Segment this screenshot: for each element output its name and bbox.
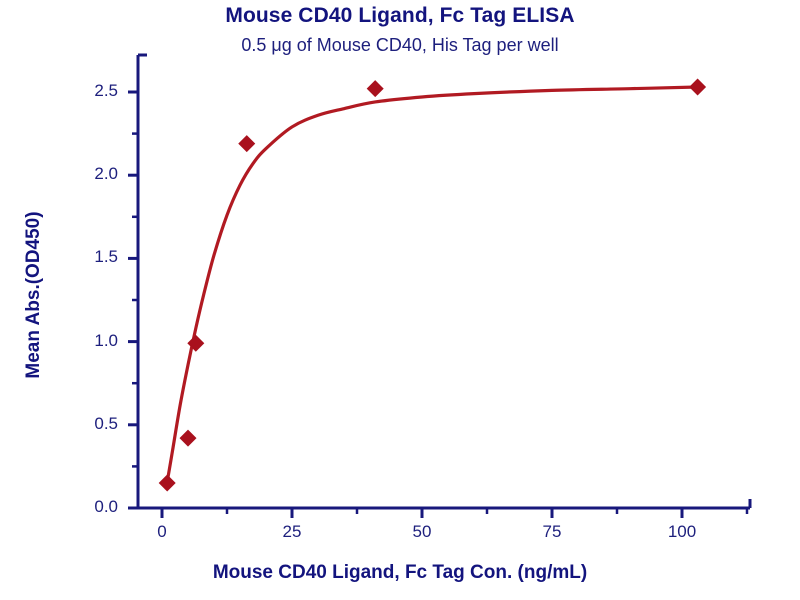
minor-ticks-group xyxy=(132,134,747,514)
elisa-chart-figure: Mouse CD40 Ligand, Fc Tag ELISA 0.5 μg o… xyxy=(0,0,800,600)
x-tick-label: 25 xyxy=(262,522,322,542)
y-tick-label: 0.0 xyxy=(66,497,118,517)
data-point-marker xyxy=(238,135,255,152)
data-point-markers xyxy=(159,79,706,492)
y-tick-label: 1.0 xyxy=(66,331,118,351)
data-point-marker xyxy=(180,430,197,447)
data-point-marker xyxy=(159,475,176,492)
y-tick-label: 2.5 xyxy=(66,81,118,101)
y-tick-label: 1.5 xyxy=(66,247,118,267)
data-point-marker xyxy=(689,79,706,96)
y-tick-label: 0.5 xyxy=(66,414,118,434)
x-tick-label: 0 xyxy=(132,522,192,542)
x-tick-label: 50 xyxy=(392,522,452,542)
axes-group xyxy=(138,55,750,508)
x-tick-label: 100 xyxy=(652,522,712,542)
plot-area xyxy=(0,0,800,600)
data-point-marker xyxy=(367,80,384,97)
x-tick-label: 75 xyxy=(522,522,582,542)
major-ticks-group xyxy=(128,92,682,518)
y-tick-label: 2.0 xyxy=(66,164,118,184)
